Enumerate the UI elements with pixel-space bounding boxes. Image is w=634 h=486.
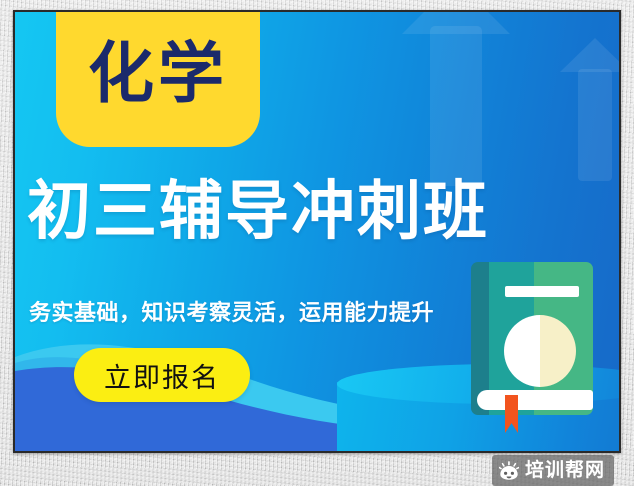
book-pages xyxy=(477,390,593,410)
book-emblem-right-half xyxy=(540,315,576,387)
subject-badge-label: 化学 xyxy=(88,41,228,111)
watermark-label: 培训帮网 xyxy=(525,461,605,480)
watermark: 培训帮网 xyxy=(492,455,614,486)
banner-frame: 化学 初三辅导冲刺班 务实基础，知识考察灵活，运用能力提升 立即报名 xyxy=(13,10,621,453)
promo-banner: 化学 初三辅导冲刺班 务实基础，知识考察灵活，运用能力提升 立即报名 xyxy=(15,12,619,451)
subject-badge: 化学 xyxy=(56,12,260,147)
up-arrow-icon xyxy=(578,69,612,181)
enroll-now-button-label: 立即报名 xyxy=(104,356,220,395)
banner-subtitle: 务实基础，知识考察灵活，运用能力提升 xyxy=(29,295,434,327)
book-emblem-left-half xyxy=(504,315,540,387)
book-title-bar xyxy=(505,286,579,297)
up-arrow-icon xyxy=(430,26,482,186)
banner-headline: 初三辅导冲刺班 xyxy=(27,179,593,246)
book-illustration xyxy=(471,262,593,415)
book-emblem xyxy=(504,315,576,387)
sun-eye-icon xyxy=(499,461,519,481)
enroll-now-button[interactable]: 立即报名 xyxy=(74,348,250,402)
